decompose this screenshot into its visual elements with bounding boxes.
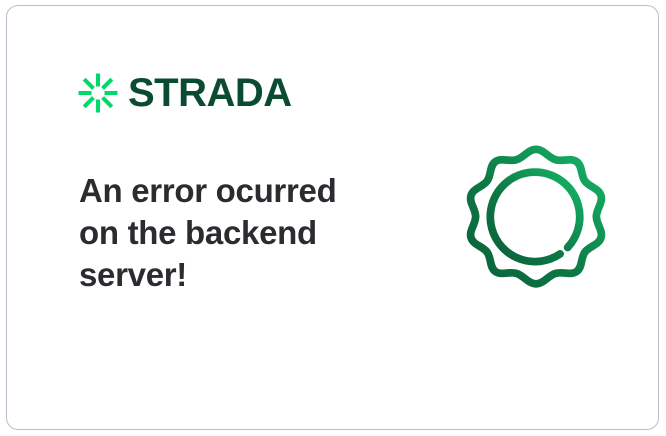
- error-headline: An error ocurred on the backend server!: [79, 170, 379, 296]
- strada-asterisk-icon: [77, 72, 119, 114]
- error-card: STRADA An error ocurred on the backend s…: [6, 5, 659, 430]
- brand-wordmark: STRADA: [128, 73, 292, 113]
- brand-lockup: STRADA: [77, 72, 292, 114]
- gear-icon: [450, 139, 622, 311]
